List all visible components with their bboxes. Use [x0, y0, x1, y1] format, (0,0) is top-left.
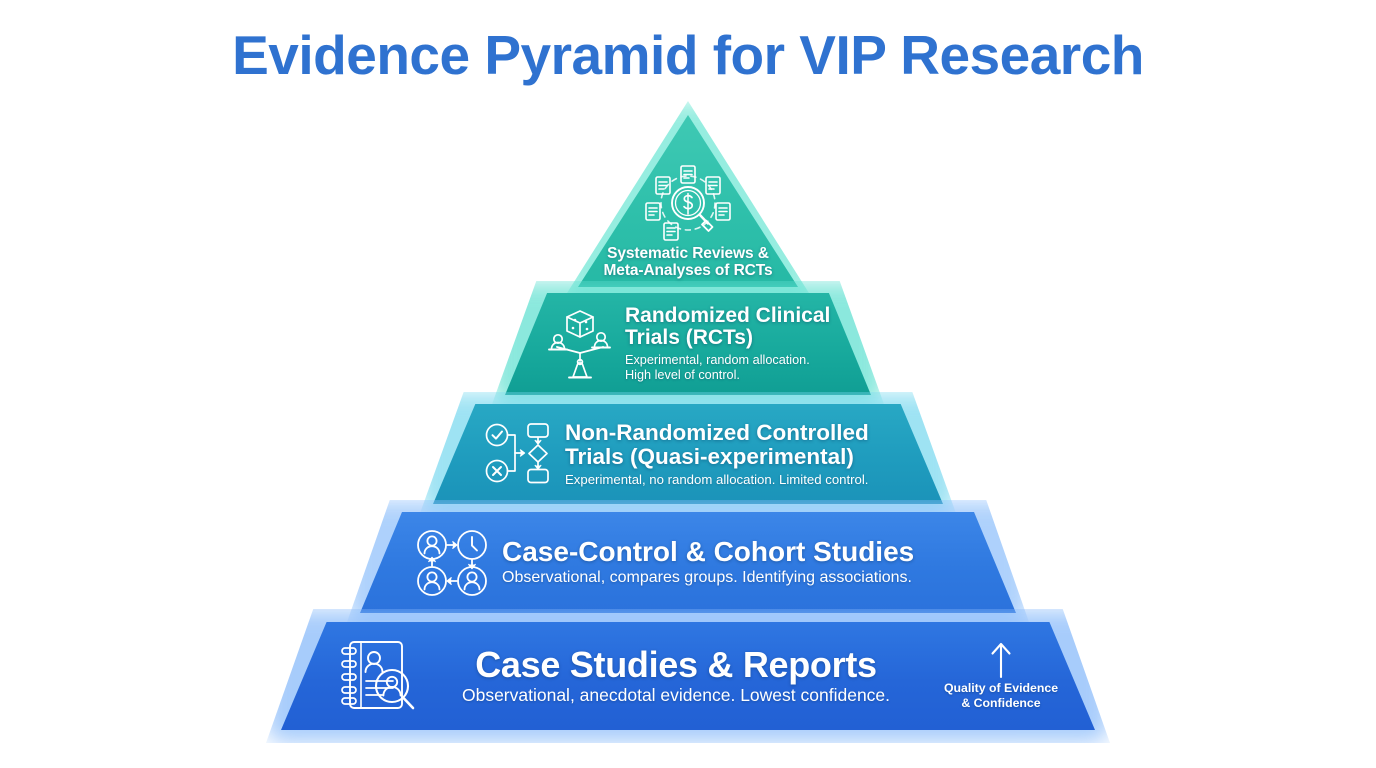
flowchart-check-cross-icon — [485, 421, 551, 487]
tier-description: Observational, anecdotal evidence. Lowes… — [427, 685, 925, 706]
up-arrow-icon — [988, 641, 1014, 679]
pyramid-tier-randomized-clinical-trials[interactable]: Randomized Clinical Trials (RCTs) Experi… — [505, 293, 871, 395]
tier-title: Case Studies & Reports — [427, 646, 925, 684]
notebook-person-magnifier-icon — [337, 638, 417, 714]
tier-title: Randomized Clinical Trials (RCTs) — [625, 305, 845, 350]
evidence-pyramid: Systematic Reviews & Meta-Analyses of RC… — [0, 0, 1376, 768]
tier-title: Non-Randomized Controlled Trials (Quasi-… — [565, 421, 917, 469]
quality-of-evidence-label: Quality of Evidence & Confidence — [944, 681, 1058, 712]
quality-of-evidence-indicator: Quality of Evidence & Confidence — [931, 641, 1071, 712]
tier-title: Case-Control & Cohort Studies — [502, 537, 986, 567]
tier-description: Experimental, random allocation. High le… — [625, 353, 845, 383]
pyramid-tier-non-randomized-controlled-trials[interactable]: Non-Randomized Controlled Trials (Quasi-… — [433, 404, 943, 504]
tier-description: Observational, compares groups. Identify… — [502, 569, 986, 588]
tier-text: Case-Control & Cohort Studies Observatio… — [502, 537, 986, 588]
tier-description-line1: Experimental, random allocation. — [625, 353, 810, 367]
tier-text: Systematic Reviews & Meta-Analyses of RC… — [603, 246, 772, 279]
tier-text: Randomized Clinical Trials (RCTs) Experi… — [625, 305, 845, 383]
tier-title-line1: Systematic Reviews & — [607, 245, 769, 262]
balance-scale-dice-icon — [549, 309, 611, 379]
people-clock-cycle-icon — [416, 529, 488, 597]
pyramid-tier-systematic-reviews[interactable]: Systematic Reviews & Meta-Analyses of RC… — [578, 115, 798, 287]
quality-label-line1: Quality of Evidence — [944, 681, 1058, 695]
pyramid-tier-case-control-cohort-studies[interactable]: Case-Control & Cohort Studies Observatio… — [360, 512, 1016, 613]
tier-description: Experimental, no random allocation. Limi… — [565, 472, 917, 488]
tier-title: Systematic Reviews & Meta-Analyses of RC… — [603, 246, 772, 279]
tier-description-line2: High level of control. — [625, 368, 740, 382]
tier-title-line1: Randomized Clinical — [625, 304, 830, 327]
tier-title-line1: Non-Randomized Controlled — [565, 420, 869, 445]
tier-text: Non-Randomized Controlled Trials (Quasi-… — [565, 421, 917, 487]
tier-text: Case Studies & Reports Observational, an… — [427, 646, 925, 706]
quality-label-line2: & Confidence — [961, 696, 1040, 710]
document-network-magnifier-icon — [642, 165, 734, 243]
tier-title-line2: Meta-Analyses of RCTs — [603, 262, 772, 279]
tier-title-line2: Trials (RCTs) — [625, 326, 753, 349]
tier-title-line2: Trials (Quasi-experimental) — [565, 444, 854, 469]
pyramid-tier-case-studies-reports[interactable]: Case Studies & Reports Observational, an… — [281, 622, 1095, 730]
